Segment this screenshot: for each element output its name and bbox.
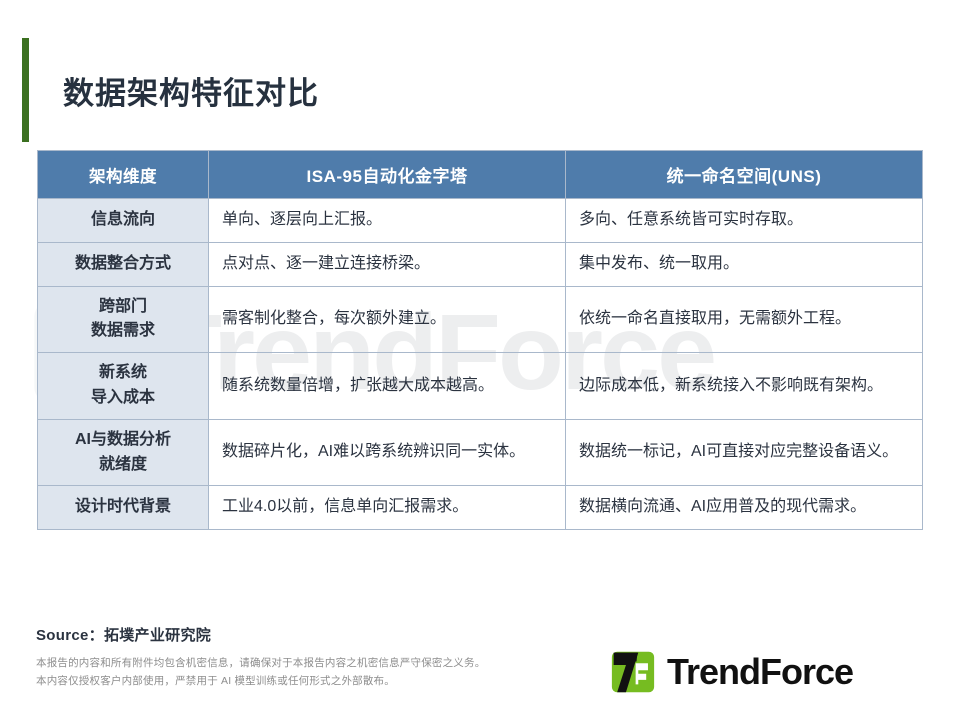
row-uns-cell: 数据横向流通、AI应用普及的现代需求。 xyxy=(566,486,923,530)
footer: Source：拓墣产业研究院 本报告的内容和所有附件均包含机密信息，请确保对于本… xyxy=(36,624,636,690)
row-uns-cell: 边际成本低，新系统接入不影响既有架构。 xyxy=(566,353,923,420)
row-dimension-cell: 信息流向 xyxy=(38,199,209,243)
trendforce-logo-mark-icon xyxy=(611,650,655,694)
slide-root: 数据架构特征对比 TrendForce 架构维度 ISA-95自动化金字塔 统一… xyxy=(0,0,960,720)
row-dimension-cell: 新系统 导入成本 xyxy=(38,353,209,420)
dimension-line: 信息流向 xyxy=(42,208,204,233)
row-isa95-cell: 点对点、逐一建立连接桥梁。 xyxy=(209,242,566,286)
table-row: 跨部门 数据需求 需客制化整合，每次额外建立。 依统一命名直接取用，无需额外工程… xyxy=(38,286,923,353)
table-row: 信息流向 单向、逐层向上汇报。 多向、任意系统皆可实时存取。 xyxy=(38,199,923,243)
table-header-row: 架构维度 ISA-95自动化金字塔 统一命名空间(UNS) xyxy=(38,151,923,199)
col-header-uns: 统一命名空间(UNS) xyxy=(566,151,923,199)
comparison-table-wrap: 架构维度 ISA-95自动化金字塔 统一命名空间(UNS) 信息流向 单向、逐层… xyxy=(37,150,922,530)
disclaimer-line-1: 本报告的内容和所有附件均包含机密信息，请确保对于本报告内容之机密信息严守保密之义… xyxy=(36,654,636,672)
dimension-line: 数据整合方式 xyxy=(42,252,204,277)
dimension-line: 新系统 xyxy=(42,361,204,386)
row-isa95-cell: 工业4.0以前，信息单向汇报需求。 xyxy=(209,486,566,530)
col-header-isa95: ISA-95自动化金字塔 xyxy=(209,151,566,199)
source-label: Source：拓墣产业研究院 xyxy=(36,624,636,645)
row-isa95-cell: 需客制化整合，每次额外建立。 xyxy=(209,286,566,353)
dimension-line: 数据需求 xyxy=(42,319,204,344)
row-dimension-cell: 设计时代背景 xyxy=(38,486,209,530)
page-title: 数据架构特征对比 xyxy=(63,68,319,113)
table-body: 信息流向 单向、逐层向上汇报。 多向、任意系统皆可实时存取。 数据整合方式 点对… xyxy=(38,199,923,530)
table-row: 设计时代背景 工业4.0以前，信息单向汇报需求。 数据横向流通、AI应用普及的现… xyxy=(38,486,923,530)
title-area: 数据架构特征对比 xyxy=(22,38,319,142)
col-header-dimension: 架构维度 xyxy=(38,151,209,199)
dimension-line: AI与数据分析 xyxy=(42,428,204,453)
row-dimension-cell: AI与数据分析 就绪度 xyxy=(38,419,209,486)
dimension-line: 跨部门 xyxy=(42,295,204,320)
disclaimer-line-2: 本内容仅授权客户内部使用，严禁用于 AI 模型训练或任何形式之外部散布。 xyxy=(36,672,636,690)
row-uns-cell: 依统一命名直接取用，无需额外工程。 xyxy=(566,286,923,353)
table-row: AI与数据分析 就绪度 数据碎片化，AI难以跨系统辨识同一实体。 数据统一标记，… xyxy=(38,419,923,486)
trendforce-logo-text: TrendForce xyxy=(667,654,853,690)
row-dimension-cell: 数据整合方式 xyxy=(38,242,209,286)
row-uns-cell: 多向、任意系统皆可实时存取。 xyxy=(566,199,923,243)
row-uns-cell: 集中发布、统一取用。 xyxy=(566,242,923,286)
row-isa95-cell: 随系统数量倍增，扩张越大成本越高。 xyxy=(209,353,566,420)
dimension-line: 导入成本 xyxy=(42,386,204,411)
row-uns-cell: 数据统一标记，AI可直接对应完整设备语义。 xyxy=(566,419,923,486)
table-row: 数据整合方式 点对点、逐一建立连接桥梁。 集中发布、统一取用。 xyxy=(38,242,923,286)
disclaimer-text: 本报告的内容和所有附件均包含机密信息，请确保对于本报告内容之机密信息严守保密之义… xyxy=(36,654,636,690)
comparison-table: 架构维度 ISA-95自动化金字塔 统一命名空间(UNS) 信息流向 单向、逐层… xyxy=(37,150,923,530)
row-isa95-cell: 数据碎片化，AI难以跨系统辨识同一实体。 xyxy=(209,419,566,486)
trendforce-logo: TrendForce xyxy=(611,650,853,694)
title-accent-bar xyxy=(22,38,29,142)
row-isa95-cell: 单向、逐层向上汇报。 xyxy=(209,199,566,243)
dimension-line: 设计时代背景 xyxy=(42,495,204,520)
dimension-line: 就绪度 xyxy=(42,453,204,478)
row-dimension-cell: 跨部门 数据需求 xyxy=(38,286,209,353)
table-row: 新系统 导入成本 随系统数量倍增，扩张越大成本越高。 边际成本低，新系统接入不影… xyxy=(38,353,923,420)
